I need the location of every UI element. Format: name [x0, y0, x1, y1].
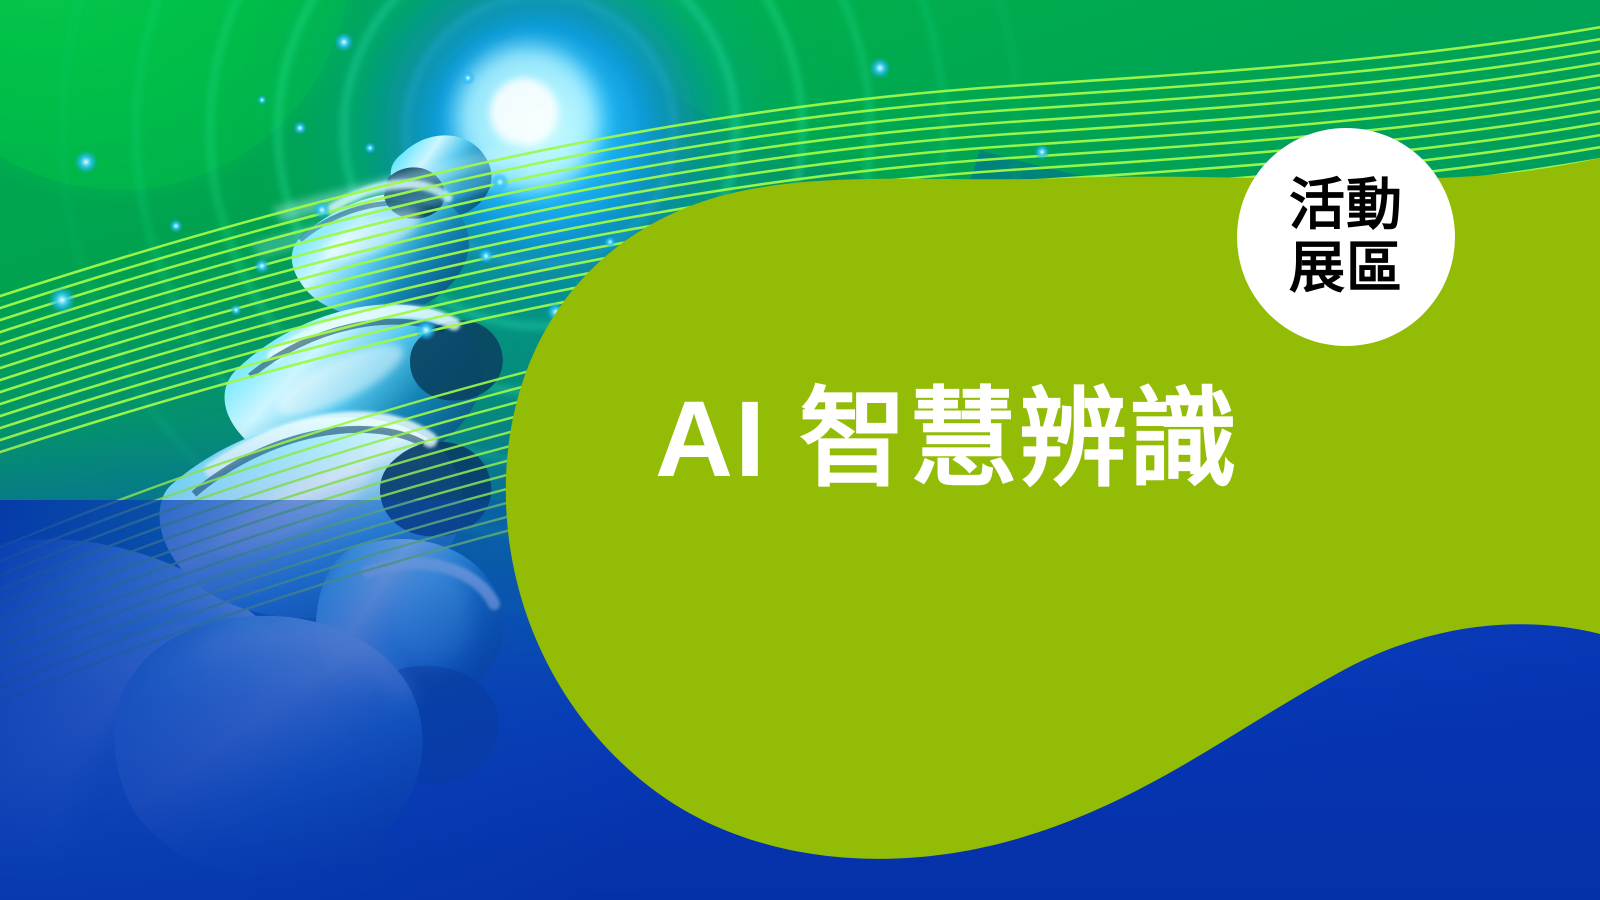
badge-label-line-1: 活動 [1289, 174, 1403, 237]
badge-label-line-2: 展區 [1289, 237, 1403, 300]
hero-title: AI 智慧辨識 [655, 382, 1239, 495]
ai-event-banner: 活動 展區 AI 智慧辨識 [0, 0, 1600, 900]
badge-label[interactable]: 活動 展區 [1237, 128, 1455, 346]
